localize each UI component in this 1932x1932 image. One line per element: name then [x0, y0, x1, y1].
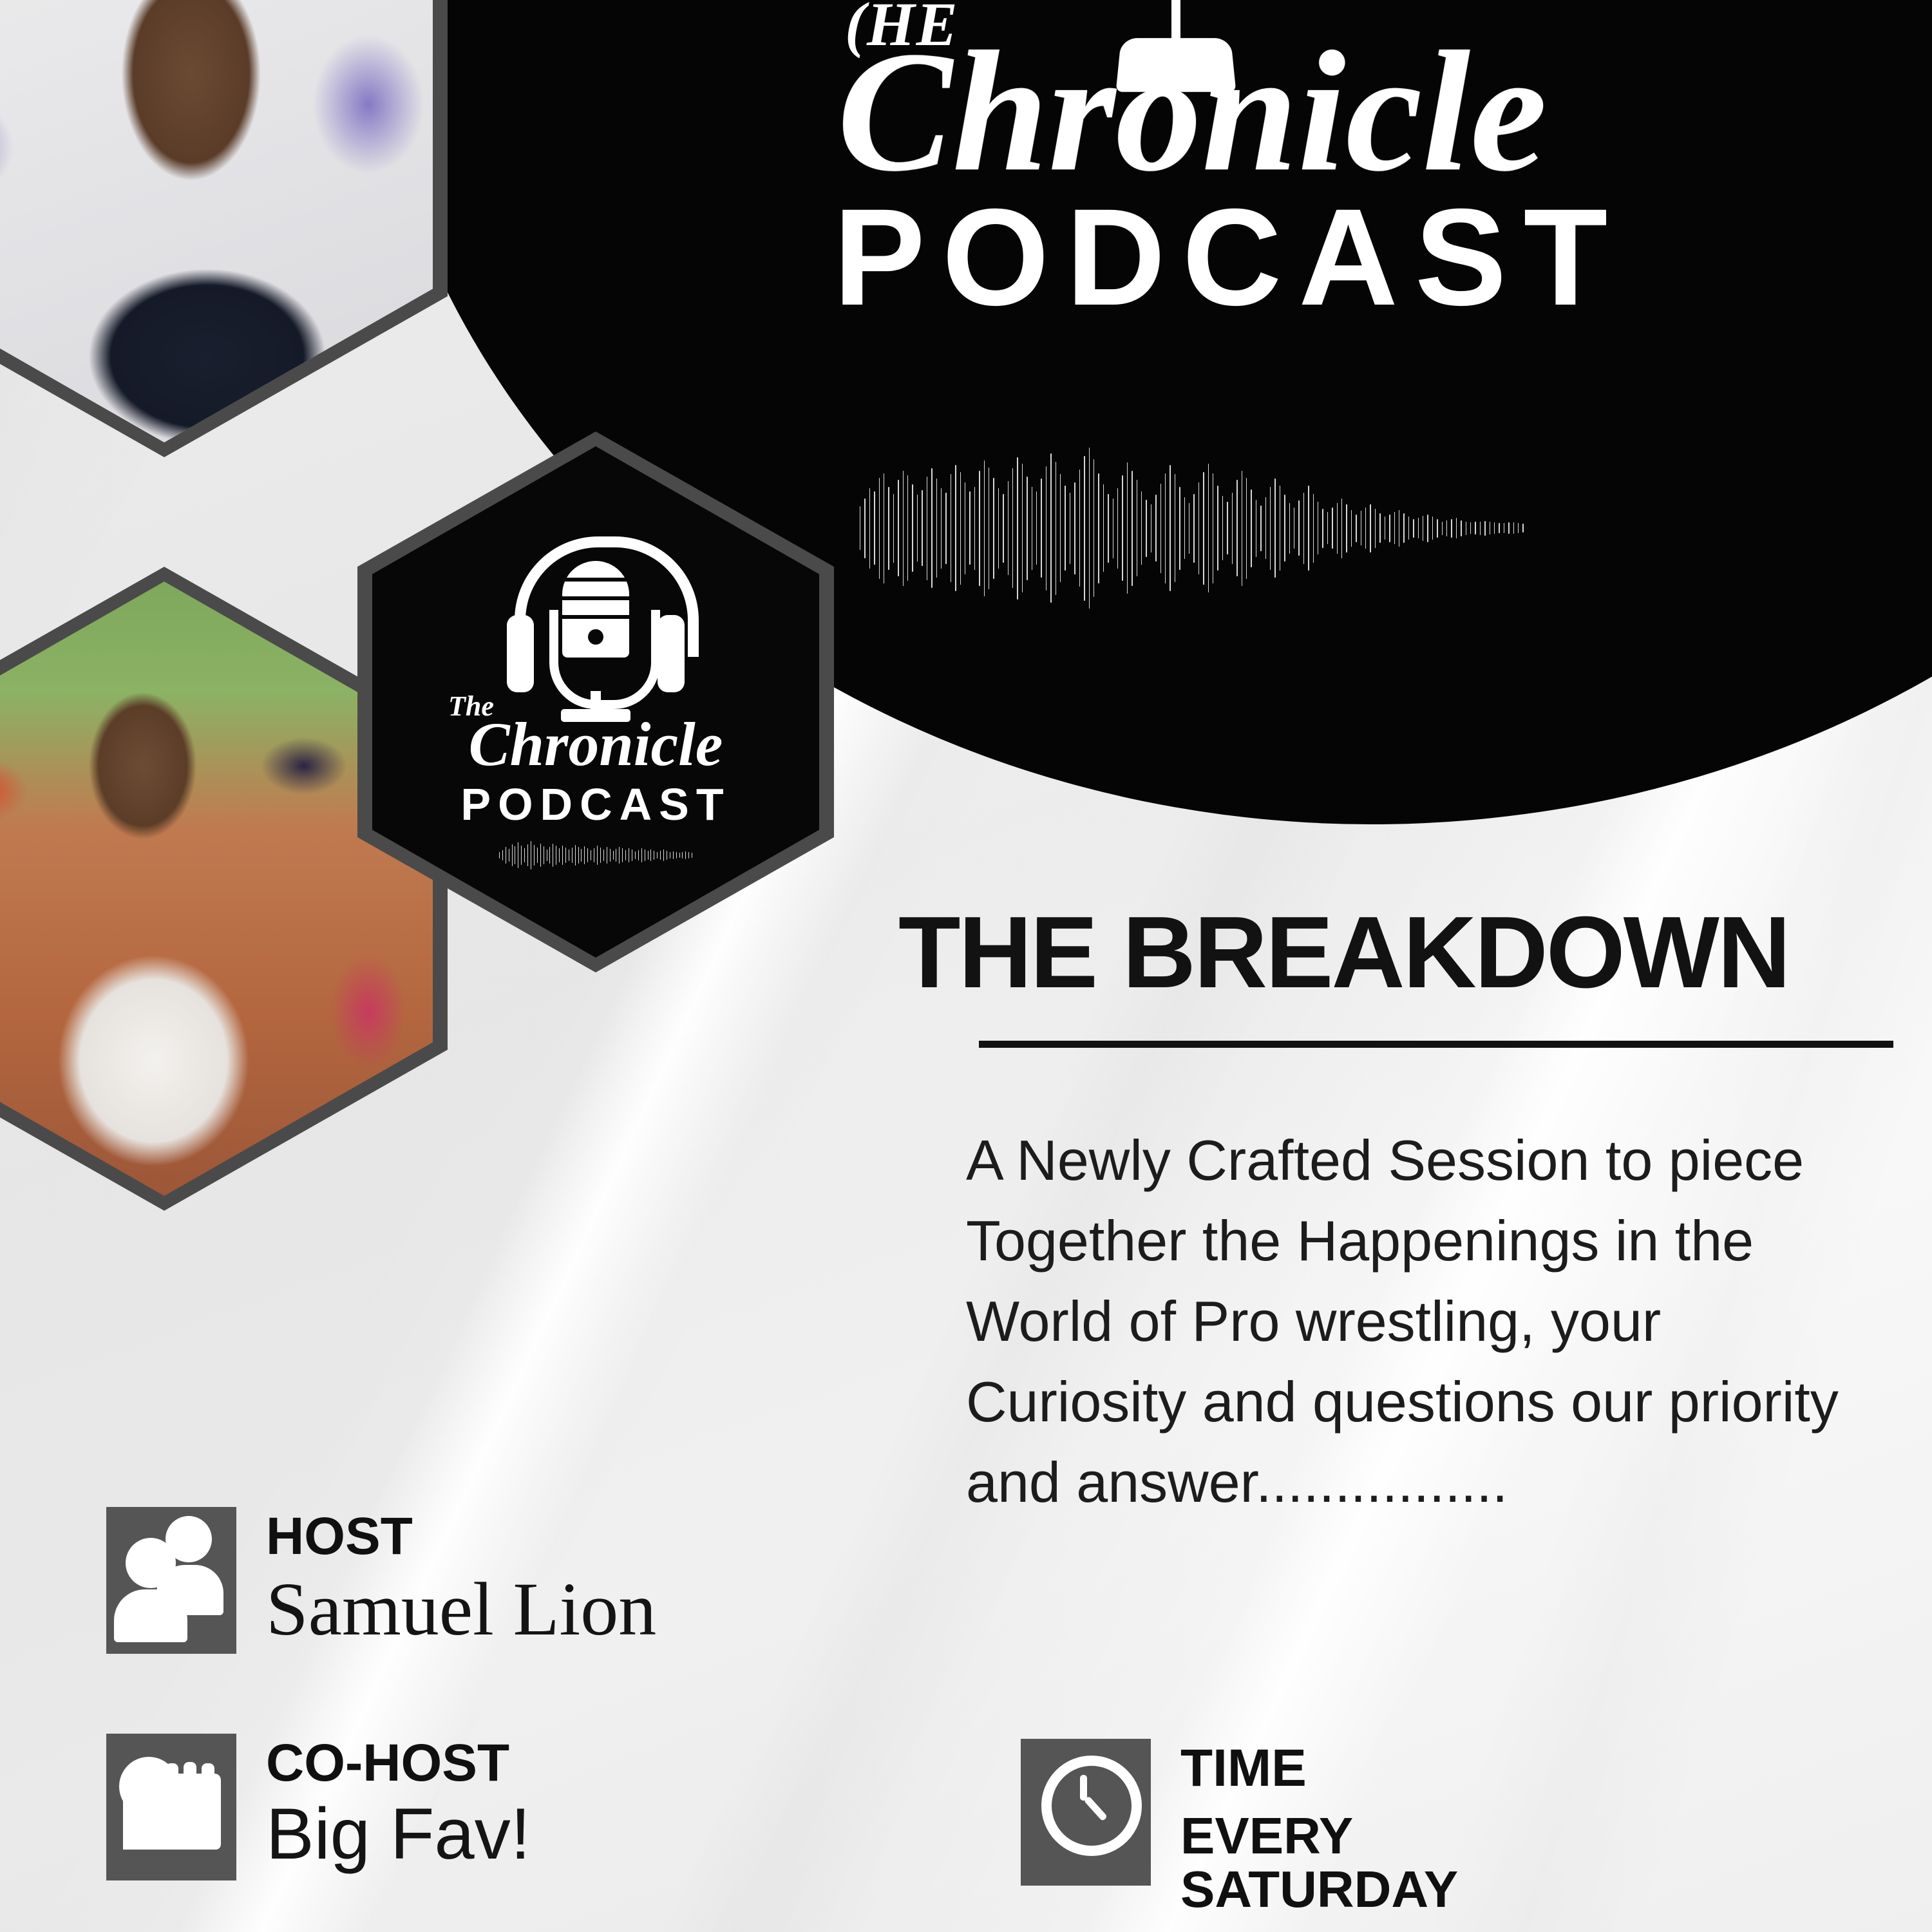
audio-waveform-icon: [860, 444, 1523, 612]
description-text: A Newly Crafted Session to piece Togethe…: [966, 1121, 1893, 1523]
host-photo: [0, 0, 433, 442]
podcast-promo-poster: (HE Chronicle PODCAST: [0, 0, 1932, 1932]
logo-badge: The Chronicle PODCAST: [372, 446, 819, 958]
host-photo-hexagon: [0, 0, 448, 457]
mic-boom-icon: [1104, 0, 1246, 111]
title-divider: [979, 1041, 1893, 1048]
time-line-2: SATURDAY: [1180, 1863, 1458, 1916]
brand-podcast-text: PODCAST: [833, 189, 1771, 327]
hand-icon: [106, 1734, 236, 1880]
time-role-label: TIME: [1180, 1741, 1458, 1795]
page-title: THE BREAKDOWN: [898, 902, 1932, 1003]
badge-waveform-icon: [499, 840, 692, 870]
time-line-1: EVERY: [1180, 1810, 1458, 1862]
host-name: Samuel Lion: [266, 1567, 656, 1651]
brand-name-text: Chronicle: [837, 39, 1771, 184]
host-role-label: HOST: [266, 1510, 656, 1564]
logo-badge-hexagon: The Chronicle PODCAST: [357, 431, 834, 972]
microphone-headphones-icon: [493, 534, 699, 727]
credit-row-cohost: CO-HOST Big Fav!: [106, 1734, 531, 1880]
brand-wordmark: (HE Chronicle PODCAST: [831, 0, 1771, 327]
users-icon: [106, 1507, 236, 1654]
credit-row-host: HOST Samuel Lion: [106, 1507, 656, 1654]
credit-row-time: TIME EVERY SATURDAY: [1021, 1739, 1458, 1916]
clock-icon: [1021, 1739, 1151, 1886]
cohost-name: Big Fav!: [266, 1794, 531, 1873]
badge-podcast-text: PODCAST: [460, 779, 730, 830]
cohost-role-label: CO-HOST: [266, 1736, 531, 1790]
